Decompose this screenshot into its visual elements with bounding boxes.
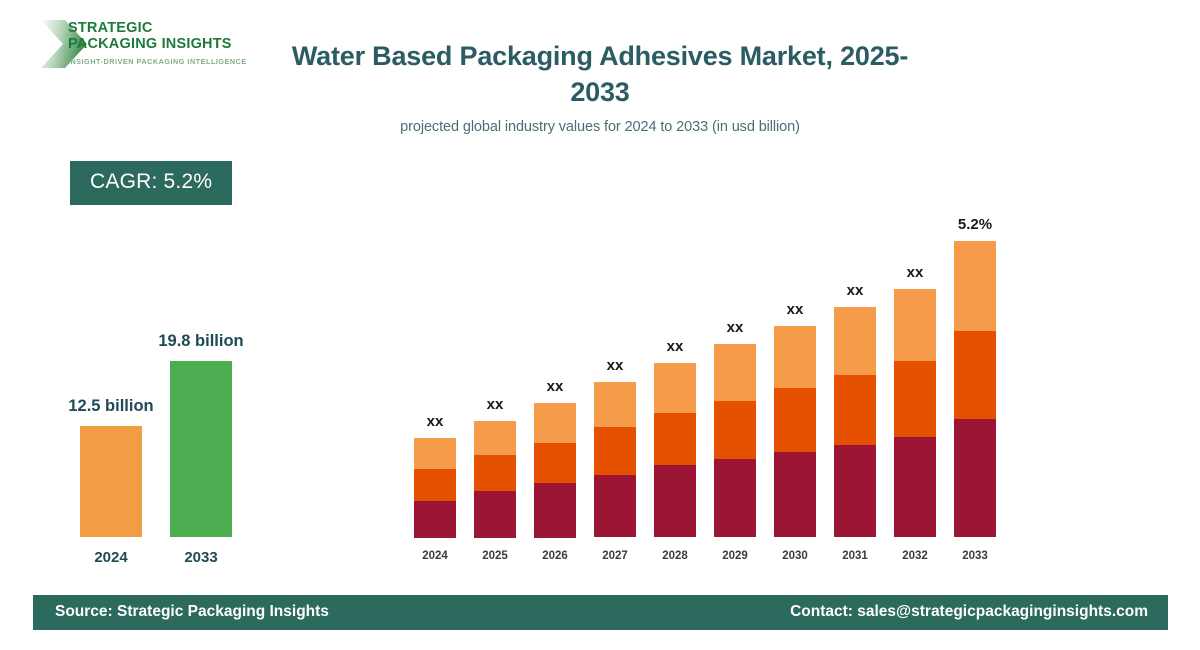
forecast-bar-year-label: 2033	[930, 550, 1020, 562]
forecast-bar-stack	[594, 382, 636, 538]
forecast-bar-group: xx2030	[774, 326, 816, 538]
forecast-bar-segment-segment-b	[474, 455, 516, 491]
forecast-bar-top-label: xx	[390, 413, 480, 430]
forecast-bar-segment-segment-a	[954, 419, 996, 537]
endpoint-bar-year-label: 2033	[136, 549, 266, 566]
cagr-badge: CAGR: 5.2%	[70, 161, 232, 205]
forecast-bar-group: xx2032	[894, 289, 936, 538]
forecast-bar-stack	[834, 307, 876, 538]
forecast-bar-stack	[654, 363, 696, 538]
forecast-bar-group: xx2025	[474, 421, 516, 538]
forecast-bar-group: xx2027	[594, 382, 636, 538]
forecast-bar-segment-segment-b	[954, 331, 996, 419]
forecast-bar-segment-segment-b	[774, 388, 816, 452]
forecast-bar-group: xx2026	[534, 403, 576, 538]
brand-tagline: INSIGHT-DRIVEN PACKAGING INTELLIGENCE	[68, 57, 247, 66]
forecast-bar-group: xx2028	[654, 363, 696, 538]
forecast-bar-top-label: xx	[690, 319, 780, 336]
forecast-bar-segment-segment-a	[474, 491, 516, 538]
forecast-bar-stack	[414, 438, 456, 538]
forecast-bar-segment-segment-a	[834, 445, 876, 537]
forecast-bar-segment-segment-b	[894, 361, 936, 437]
forecast-bar-top-label: xx	[810, 282, 900, 299]
forecast-bar-segment-segment-a	[654, 465, 696, 537]
forecast-bar-top-label: xx	[450, 396, 540, 413]
footer-source-text: Source: Strategic Packaging Insights	[55, 603, 329, 621]
forecast-bar-segment-segment-c	[834, 307, 876, 375]
footer-contact-text: Contact: sales@strategicpackaginginsight…	[790, 603, 1148, 621]
forecast-bar-segment-segment-b	[534, 443, 576, 483]
forecast-bar-segment-segment-b	[654, 413, 696, 465]
forecast-bar-segment-segment-c	[594, 382, 636, 427]
forecast-bar-segment-segment-c	[534, 403, 576, 443]
page-title: Water Based Packaging Adhesives Market, …	[265, 38, 935, 110]
endpoint-bar	[80, 426, 142, 537]
forecast-bar-segment-segment-c	[774, 326, 816, 388]
forecast-bar-segment-segment-c	[954, 241, 996, 331]
forecast-bar-segment-segment-a	[534, 483, 576, 538]
forecast-bar-segment-segment-a	[774, 452, 816, 537]
forecast-bar-segment-segment-a	[414, 501, 456, 538]
forecast-bar-top-label: xx	[870, 264, 960, 281]
brand-wordmark: STRATEGIC PACKAGING INSIGHTS INSIGHT-DRI…	[68, 20, 247, 66]
forecast-bar-top-label: xx	[570, 357, 660, 374]
forecast-bar-segment-segment-a	[894, 437, 936, 537]
forecast-bar-top-label: xx	[630, 338, 720, 355]
forecast-bar-segment-segment-c	[414, 438, 456, 469]
footer-bar: Source: Strategic Packaging Insights Con…	[33, 595, 1168, 630]
forecast-bar-segment-segment-b	[414, 469, 456, 501]
forecast-bar-stack	[894, 289, 936, 538]
forecast-bar-stack	[714, 344, 756, 538]
brand-name-line-1: STRATEGIC	[68, 20, 247, 36]
forecast-bar-stack	[474, 421, 516, 538]
forecast-bar-segment-segment-c	[474, 421, 516, 455]
endpoint-comparison-chart: 12.5 billion202419.8 billion2033	[40, 300, 290, 570]
forecast-bar-group: xx2024	[414, 438, 456, 538]
header-block: Water Based Packaging Adhesives Market, …	[265, 38, 935, 135]
forecast-bar-stack	[534, 403, 576, 538]
forecast-bar-group: xx2029	[714, 344, 756, 538]
forecast-bar-stack	[774, 326, 816, 538]
forecast-bar-segment-segment-b	[714, 401, 756, 459]
yearly-forecast-stacked-chart: xx2024xx2025xx2026xx2027xx2028xx2029xx20…	[408, 205, 1008, 565]
forecast-bar-segment-segment-c	[714, 344, 756, 401]
forecast-bar-top-label: 5.2%	[930, 216, 1020, 233]
forecast-bar-segment-segment-b	[834, 375, 876, 445]
forecast-bar-group: 5.2%2033	[954, 241, 996, 538]
endpoint-bar-group: 19.8 billion2033	[170, 361, 232, 537]
forecast-bar-segment-segment-a	[714, 459, 756, 537]
endpoint-bar-group: 12.5 billion2024	[80, 426, 142, 537]
forecast-bar-top-label: xx	[750, 301, 840, 318]
endpoint-bar-value-label: 19.8 billion	[116, 332, 286, 351]
brand-logo: STRATEGIC PACKAGING INSIGHTS INSIGHT-DRI…	[30, 14, 260, 76]
forecast-bar-stack	[954, 241, 996, 538]
endpoint-bar	[170, 361, 232, 537]
forecast-bar-segment-segment-c	[654, 363, 696, 413]
brand-name-line-2: PACKAGING INSIGHTS	[68, 36, 247, 52]
page-subtitle: projected global industry values for 202…	[265, 119, 935, 135]
forecast-bar-group: xx2031	[834, 307, 876, 538]
forecast-bar-segment-segment-b	[594, 427, 636, 475]
forecast-bar-segment-segment-c	[894, 289, 936, 361]
forecast-bar-top-label: xx	[510, 378, 600, 395]
forecast-bar-segment-segment-a	[594, 475, 636, 537]
